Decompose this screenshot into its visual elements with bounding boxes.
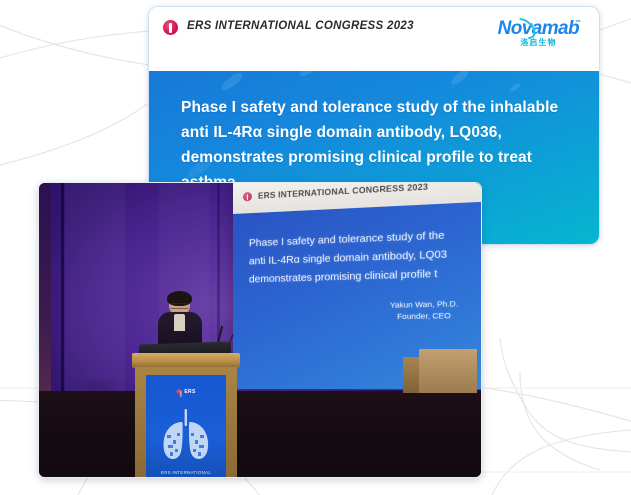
trademark-symbol: ™	[575, 20, 580, 26]
decor-blob	[509, 82, 522, 93]
novamab-wordmark-text: Novamab	[498, 18, 579, 39]
projected-presenter-name: Yakun Wan, Ph.D. Founder, CEO	[371, 297, 477, 323]
podium-sign: ERS	[146, 375, 226, 477]
presentation-title: Phase I safety and tolerance study of th…	[181, 95, 573, 195]
podium-caption: ERS INTERNATIONAL	[161, 470, 211, 475]
projected-presentation-title: Phase I safety and tolerance study of th…	[249, 224, 482, 289]
projected-congress-title: ERS INTERNATIONAL CONGRESS 2023	[258, 182, 428, 200]
congress-title: ERS INTERNATIONAL CONGRESS 2023	[187, 20, 414, 32]
decor-blob	[298, 71, 317, 78]
ers-circle-icon	[176, 389, 182, 395]
event-photo: ERS INTERNATIONAL CONGRESS 2023 Phase I …	[38, 182, 482, 478]
decor-blob	[449, 71, 471, 87]
stage-floor	[39, 391, 481, 477]
ers-circle-icon	[163, 20, 178, 35]
novamab-logo-icon: Novamab ™ 洛启生物	[498, 19, 583, 47]
podium-front: ERS	[135, 367, 237, 477]
stage-step-side	[403, 357, 419, 393]
novamab-wordmark: Novamab ™	[498, 19, 579, 38]
novamab-chinese-name: 洛启生物	[498, 39, 579, 47]
podium-top	[132, 353, 240, 368]
ers-circle-icon	[243, 192, 252, 202]
decor-blob	[219, 71, 245, 93]
podium-brand-text: ERS	[184, 389, 195, 395]
slide-card-header: ERS INTERNATIONAL CONGRESS 2023 Novamab …	[149, 7, 599, 71]
podium: ERS	[132, 353, 240, 477]
speaker-shirt	[174, 314, 185, 331]
ers-lungs-icon	[158, 409, 214, 461]
speaker	[157, 293, 203, 349]
podium-ers-logo: ERS	[176, 389, 195, 395]
speaker-glasses	[170, 303, 189, 309]
stage-step	[419, 349, 477, 393]
